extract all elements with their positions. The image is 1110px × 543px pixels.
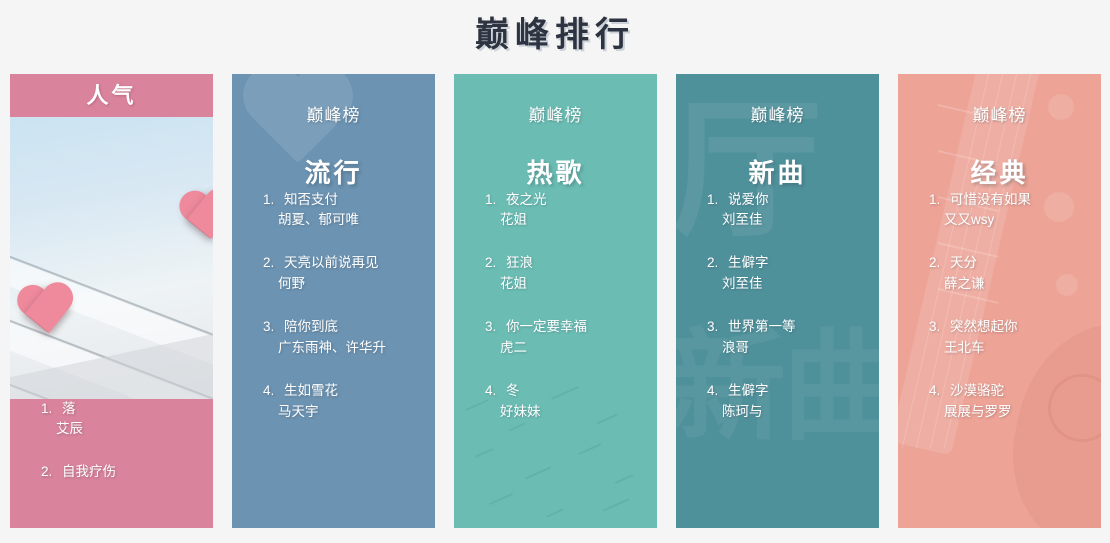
- song-title: 落: [62, 399, 213, 420]
- board-kicker: 巅峰榜: [676, 74, 879, 126]
- song-artist: 又又wsy: [944, 210, 1101, 231]
- song-title: 天分: [950, 253, 1101, 274]
- board-kicker: 巅峰榜: [898, 74, 1101, 126]
- list-item[interactable]: 天分 薛之谦: [944, 253, 1101, 295]
- song-list[interactable]: 夜之光 花姐 狂浪 花姐 你一定要幸福 虎二 冬 好妹妹: [454, 190, 657, 423]
- song-title: 夜之光: [506, 190, 657, 211]
- board-kicker: 巅峰榜: [454, 74, 657, 126]
- rank-board-classic[interactable]: 巅峰榜 经典 可惜没有如果 又又wsy 天分 薛之谦 突然想起你 王北车 沙漠骆…: [898, 74, 1101, 528]
- song-list[interactable]: 知否支付 胡夏、郁可唯 天亮以前说再见 何野 陪你到底 广东雨神、许华升 生如雪…: [232, 190, 435, 423]
- song-title: 狂浪: [506, 253, 657, 274]
- song-list[interactable]: 可惜没有如果 又又wsy 天分 薛之谦 突然想起你 王北车 沙漠骆驼 展展与罗罗: [898, 190, 1101, 423]
- list-item[interactable]: 说爱你 刘至佳: [722, 190, 879, 232]
- rank-board-row: 人气 落 艾辰 自我疗伤: [0, 74, 1110, 528]
- song-artist: 艾辰: [56, 419, 213, 440]
- song-artist: 王北车: [944, 338, 1101, 359]
- song-title: 你一定要幸福: [506, 317, 657, 338]
- song-title: 天亮以前说再见: [284, 253, 435, 274]
- song-artist: 广东雨神、许华升: [278, 338, 435, 359]
- list-item[interactable]: 生僻字 刘至佳: [722, 253, 879, 295]
- song-title: 可惜没有如果: [950, 190, 1101, 211]
- song-title: 陪你到底: [284, 317, 435, 338]
- list-item[interactable]: 自我疗伤: [56, 462, 213, 483]
- popular-header-label: 人气: [10, 74, 213, 117]
- list-item[interactable]: 可惜没有如果 又又wsy: [944, 190, 1101, 232]
- song-artist: 胡夏、郁可唯: [278, 210, 435, 231]
- song-title: 突然想起你: [950, 317, 1101, 338]
- list-item[interactable]: 狂浪 花姐: [500, 253, 657, 295]
- song-artist: 薛之谦: [944, 274, 1101, 295]
- song-artist: 花姐: [500, 274, 657, 295]
- song-artist: 花姐: [500, 210, 657, 231]
- list-item[interactable]: 夜之光 花姐: [500, 190, 657, 232]
- song-artist: 展展与罗罗: [944, 402, 1101, 423]
- page-title: 巅峰排行: [0, 0, 1110, 57]
- list-item[interactable]: 知否支付 胡夏、郁可唯: [278, 190, 435, 232]
- list-item[interactable]: 沙漠骆驼 展展与罗罗: [944, 381, 1101, 423]
- board-title: 热歌: [454, 153, 657, 190]
- song-artist: 何野: [278, 274, 435, 295]
- heart-icon: [13, 282, 78, 342]
- song-title: 知否支付: [284, 190, 435, 211]
- heart-icon: [176, 188, 213, 244]
- song-title: 生僻字: [728, 253, 879, 274]
- popular-song-list-wrap: 落 艾辰 自我疗伤: [10, 399, 213, 528]
- song-title: 生僻字: [728, 381, 879, 402]
- song-artist: 刘至佳: [722, 210, 879, 231]
- list-item[interactable]: 天亮以前说再见 何野: [278, 253, 435, 295]
- song-artist: 马天宇: [278, 402, 435, 423]
- song-artist: 好妹妹: [500, 402, 657, 423]
- song-artist: 虎二: [500, 338, 657, 359]
- board-title: 新曲: [676, 153, 879, 190]
- list-item[interactable]: 落 艾辰: [56, 399, 213, 441]
- song-title: 说爱你: [728, 190, 879, 211]
- song-title: 世界第一等: [728, 317, 879, 338]
- song-title: 自我疗伤: [62, 462, 213, 483]
- song-artist: 浪哥: [722, 338, 879, 359]
- board-title: 流行: [232, 153, 435, 190]
- rank-board-pop[interactable]: 巅峰榜 流行 知否支付 胡夏、郁可唯 天亮以前说再见 何野 陪你到底 广东雨神、…: [232, 74, 435, 528]
- rank-board-hot[interactable]: 巅峰榜 热歌 夜之光 花姐 狂浪 花姐 你一定要幸福 虎二 冬 好妹妹: [454, 74, 657, 528]
- song-title: 沙漠骆驼: [950, 381, 1101, 402]
- song-artist: 陈珂与: [722, 402, 879, 423]
- rank-board-popular[interactable]: 人气 落 艾辰 自我疗伤: [10, 74, 213, 528]
- list-item[interactable]: 生如雪花 马天宇: [278, 381, 435, 423]
- rank-board-new[interactable]: 厅 新曲 巅峰榜 新曲 说爱你 刘至佳 生僻字 刘至佳 世界第一等 浪哥: [676, 74, 879, 528]
- song-title: 冬: [506, 381, 657, 402]
- song-artist: 刘至佳: [722, 274, 879, 295]
- board-kicker: 巅峰榜: [232, 74, 435, 126]
- song-list[interactable]: 落 艾辰 自我疗伤: [10, 399, 213, 484]
- song-title: 生如雪花: [284, 381, 435, 402]
- list-item[interactable]: 陪你到底 广东雨神、许华升: [278, 317, 435, 359]
- list-item[interactable]: 世界第一等 浪哥: [722, 317, 879, 359]
- heart-candy-keyboard-photo: [10, 117, 213, 399]
- board-title: 经典: [898, 153, 1101, 190]
- list-item[interactable]: 突然想起你 王北车: [944, 317, 1101, 359]
- list-item[interactable]: 冬 好妹妹: [500, 381, 657, 423]
- song-list[interactable]: 说爱你 刘至佳 生僻字 刘至佳 世界第一等 浪哥 生僻字 陈珂与: [676, 190, 879, 423]
- list-item[interactable]: 生僻字 陈珂与: [722, 381, 879, 423]
- list-item[interactable]: 你一定要幸福 虎二: [500, 317, 657, 359]
